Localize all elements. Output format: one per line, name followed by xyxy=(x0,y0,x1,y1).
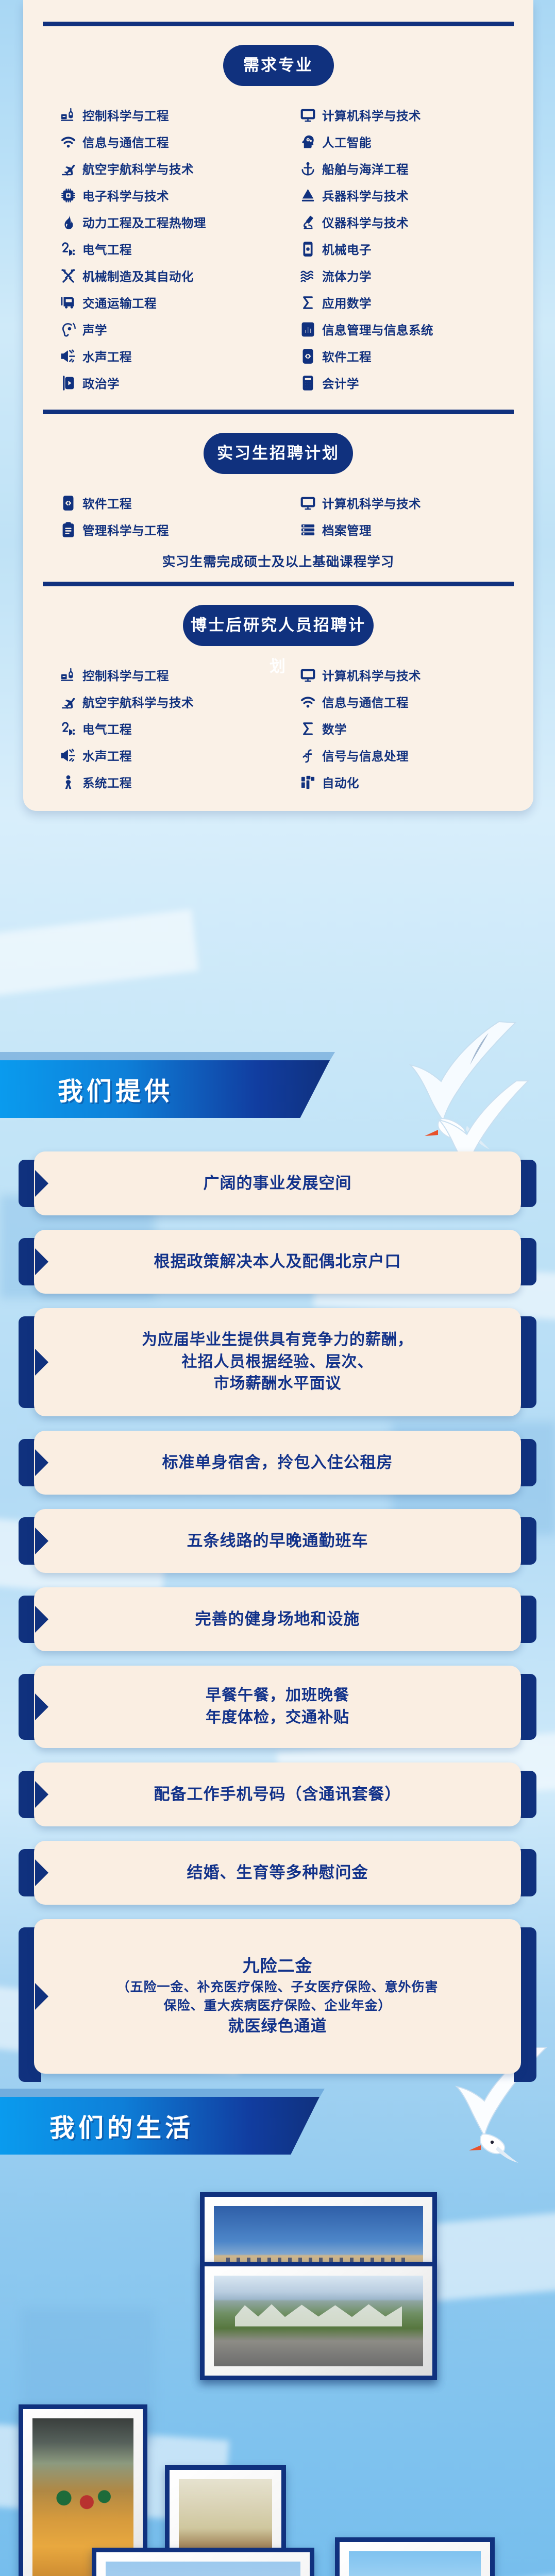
major-item: 自动化 xyxy=(278,769,533,795)
clipboard-icon xyxy=(59,521,77,538)
major-item: 航空宇航科学与技术 xyxy=(23,688,278,715)
microscope-icon xyxy=(299,213,316,231)
sonar-icon xyxy=(59,747,77,764)
majors-title: 需求专业 xyxy=(223,45,334,86)
chevron-right-icon xyxy=(35,1606,48,1633)
device-gear-icon xyxy=(299,240,316,258)
benefit-text: 广阔的事业发展空间 xyxy=(70,1172,485,1195)
insurance-footer: 就医绿色通道 xyxy=(116,2015,438,2038)
anchor-icon xyxy=(299,160,316,177)
majors-card: 需求专业 控制科学与工程计算机科学与技术信息与通信工程人工智能航空宇航科学与技术… xyxy=(23,0,533,811)
intern-grid: 软件工程计算机科学与技术管理科学与工程档案管理 xyxy=(23,487,533,543)
major-item-label: 管理科学与工程 xyxy=(82,521,169,538)
major-item-label: 数学 xyxy=(322,720,347,737)
benefit-text: 五条线路的早晚通勤班车 xyxy=(70,1530,485,1552)
major-item: 软件工程 xyxy=(278,343,533,369)
chip-icon xyxy=(59,187,77,204)
major-item-label: 电子科学与技术 xyxy=(82,187,169,204)
benefit-text: 早餐午餐，加班晚餐 年度体检，交通补贴 xyxy=(70,1685,485,1728)
major-item: 声学 xyxy=(23,316,278,343)
major-item: 人工智能 xyxy=(278,128,533,155)
major-item-label: 信息管理与信息系统 xyxy=(322,320,433,338)
life-banner: 我们的生活 xyxy=(0,2097,330,2158)
play-book-icon xyxy=(59,374,77,392)
bar-chart-icon xyxy=(299,320,316,338)
insurance-benefit-card: 九险二金 （五险一金、补充医疗保险、子女医疗保险、意外伤害 保险、重大疾病医疗保… xyxy=(19,1919,536,2074)
major-item: 系统工程 xyxy=(23,769,278,795)
major-item-label: 计算机科学与技术 xyxy=(322,106,421,124)
person-icon xyxy=(59,773,77,791)
major-item: 机械制造及其自动化 xyxy=(23,262,278,289)
major-item-label: 电气工程 xyxy=(82,240,132,258)
major-item: 机械电子 xyxy=(278,235,533,262)
major-item-label: 仪器科学与技术 xyxy=(322,213,409,231)
major-item: 船舶与海洋工程 xyxy=(278,155,533,182)
bus-icon xyxy=(59,294,77,311)
major-item: 应用数学 xyxy=(278,289,533,316)
intern-title: 实习生招聘计划 xyxy=(204,433,353,474)
major-item-label: 政治学 xyxy=(82,374,120,392)
major-item-label: 系统工程 xyxy=(82,773,132,791)
major-item-label: 机械电子 xyxy=(322,240,372,258)
major-item: 软件工程 xyxy=(23,489,278,516)
major-item-label: 控制科学与工程 xyxy=(82,106,169,124)
calculator-icon xyxy=(299,374,316,392)
automation-icon xyxy=(299,773,316,791)
majors-grid: 控制科学与工程计算机科学与技术信息与通信工程人工智能航空宇航科学与技术船舶与海洋… xyxy=(23,99,533,396)
benefit-text: 完善的健身场地和设施 xyxy=(70,1608,485,1631)
chevron-right-icon xyxy=(35,1248,48,1275)
major-item-label: 水声工程 xyxy=(82,347,132,365)
major-item: 计算机科学与技术 xyxy=(278,662,533,688)
major-item: 信号与信息处理 xyxy=(278,742,533,769)
major-item-label: 信息与通信工程 xyxy=(322,693,409,710)
seagull-illustration xyxy=(361,1018,531,1151)
ai-head-icon xyxy=(299,133,316,150)
ear-sound-icon xyxy=(59,320,77,338)
company-gate-sign-photo xyxy=(200,2262,437,2380)
offer-banner-text: 我们提供 xyxy=(58,1071,173,1108)
wifi-icon xyxy=(59,133,77,150)
chevron-right-icon xyxy=(35,1449,48,1476)
postdoc-grid: 控制科学与工程计算机科学与技术航空宇航科学与技术信息与通信工程电气工程数学水声工… xyxy=(23,659,533,795)
major-item-label: 软件工程 xyxy=(322,347,372,365)
major-item: 数学 xyxy=(278,715,533,742)
benefit-card: 根据政策解决本人及配偶北京户口 xyxy=(19,1230,536,1294)
major-item: 控制科学与工程 xyxy=(23,101,278,128)
major-item-label: 交通运输工程 xyxy=(82,294,157,311)
plug-icon xyxy=(59,240,77,258)
major-item: 信息管理与信息系统 xyxy=(278,316,533,343)
archive-list-icon xyxy=(299,521,316,538)
airplane-icon xyxy=(59,693,77,710)
major-item-label: 会计学 xyxy=(322,374,359,392)
tools-icon xyxy=(59,267,77,284)
benefit-text: 结婚、生育等多种慰问金 xyxy=(70,1861,485,1884)
chevron-right-icon xyxy=(35,1528,48,1554)
major-item-label: 电气工程 xyxy=(82,720,132,737)
insurance-detail: （五险一金、补充医疗保险、子女医疗保险、意外伤害 保险、重大疾病医疗保险、企业年… xyxy=(116,1978,438,2015)
office-tower-photo xyxy=(92,2548,314,2576)
benefit-text: 根据政策解决本人及配偶北京户口 xyxy=(70,1250,485,1273)
major-item: 水声工程 xyxy=(23,742,278,769)
major-item: 航空宇航科学与技术 xyxy=(23,155,278,182)
monitor-icon xyxy=(299,666,316,684)
major-item: 电气工程 xyxy=(23,715,278,742)
benefit-card: 广阔的事业发展空间 xyxy=(19,1151,536,1215)
major-item-label: 水声工程 xyxy=(82,747,132,764)
airplane-icon xyxy=(59,160,77,177)
major-item: 仪器科学与技术 xyxy=(278,209,533,235)
chevron-right-icon xyxy=(35,1983,48,2010)
major-item: 会计学 xyxy=(278,369,533,396)
benefits-list: 广阔的事业发展空间根据政策解决本人及配偶北京户口为应届毕业生提供具有竞争力的薪酬… xyxy=(0,1151,555,2088)
recruitment-poster: 需求专业 控制科学与工程计算机科学与技术信息与通信工程人工智能航空宇航科学与技术… xyxy=(0,0,555,2576)
major-item: 水声工程 xyxy=(23,343,278,369)
major-item-label: 船舶与海洋工程 xyxy=(322,160,409,177)
major-item: 动力工程及工程热物理 xyxy=(23,209,278,235)
major-item: 管理科学与工程 xyxy=(23,516,278,543)
chevron-right-icon xyxy=(35,1693,48,1720)
code-brackets-icon xyxy=(59,494,77,512)
benefit-text: 为应届毕业生提供具有竞争力的薪酬， 社招人员根据经验、层次、 市场薪酬水平面议 xyxy=(70,1329,485,1395)
monitor-icon xyxy=(299,106,316,124)
benefit-card: 标准单身宿舍，拎包入住公租房 xyxy=(19,1431,536,1495)
major-item: 电气工程 xyxy=(23,235,278,262)
life-banner-text: 我们的生活 xyxy=(49,2108,194,2144)
benefit-text: 配备工作手机号码（含通讯套餐） xyxy=(70,1783,485,1806)
major-item-label: 声学 xyxy=(82,320,107,338)
major-item: 计算机科学与技术 xyxy=(278,489,533,516)
missile-icon xyxy=(299,187,316,204)
flame-icon xyxy=(59,213,77,231)
intern-note: 实习生需完成硕士及以上基础课程学习 xyxy=(23,551,533,570)
benefit-card: 完善的健身场地和设施 xyxy=(19,1587,536,1651)
major-item-label: 航空宇航科学与技术 xyxy=(82,160,194,177)
major-item: 计算机科学与技术 xyxy=(278,101,533,128)
major-item-label: 人工智能 xyxy=(322,133,372,150)
sigma-icon xyxy=(299,294,316,311)
major-item: 兵器科学与技术 xyxy=(278,182,533,209)
major-item: 信息与通信工程 xyxy=(278,688,533,715)
benefit-card: 结婚、生育等多种慰问金 xyxy=(19,1841,536,1905)
major-item-label: 兵器科学与技术 xyxy=(322,187,409,204)
insurance-title: 九险二金 xyxy=(116,1955,438,1978)
sigma-icon xyxy=(299,720,316,737)
signal-f-icon xyxy=(299,747,316,764)
major-item-label: 动力工程及工程热物理 xyxy=(82,213,206,231)
divider-majors-bottom xyxy=(43,410,514,414)
major-item: 电子科学与技术 xyxy=(23,182,278,209)
major-item-label: 流体力学 xyxy=(322,267,372,284)
chevron-right-icon xyxy=(35,1781,48,1808)
major-item-label: 应用数学 xyxy=(322,294,372,311)
benefit-text: 标准单身宿舍，拎包入住公租房 xyxy=(70,1451,485,1474)
major-item-label: 信息与通信工程 xyxy=(82,133,169,150)
major-item: 交通运输工程 xyxy=(23,289,278,316)
major-item-label: 控制科学与工程 xyxy=(82,666,169,684)
waves-icon xyxy=(299,267,316,284)
benefit-card: 早餐午餐，加班晚餐 年度体检，交通补贴 xyxy=(19,1666,536,1748)
divider-intern-bottom xyxy=(43,582,514,586)
control-tower-icon xyxy=(59,106,77,124)
sonar-icon xyxy=(59,347,77,365)
major-item-label: 计算机科学与技术 xyxy=(322,666,421,684)
major-item-label: 档案管理 xyxy=(322,521,372,538)
major-item-label: 自动化 xyxy=(322,773,359,791)
dormitory-building-photo xyxy=(335,2537,495,2576)
offer-banner: 我们提供 xyxy=(0,1060,340,1121)
benefit-card: 为应届毕业生提供具有竞争力的薪酬， 社招人员根据经验、层次、 市场薪酬水平面议 xyxy=(19,1308,536,1416)
benefit-card: 配备工作手机号码（含通讯套餐） xyxy=(19,1762,536,1826)
postdoc-title: 博士后研究人员招聘计划 xyxy=(183,605,374,646)
major-item: 政治学 xyxy=(23,369,278,396)
benefit-card: 五条线路的早晚通勤班车 xyxy=(19,1509,536,1573)
plug-icon xyxy=(59,720,77,737)
major-item-label: 计算机科学与技术 xyxy=(322,494,421,512)
major-item: 控制科学与工程 xyxy=(23,662,278,688)
control-tower-icon xyxy=(59,666,77,684)
major-item: 档案管理 xyxy=(278,516,533,543)
paint-wash xyxy=(0,909,199,997)
divider-top xyxy=(43,22,514,26)
chevron-right-icon xyxy=(35,1859,48,1886)
major-item: 信息与通信工程 xyxy=(23,128,278,155)
monitor-icon xyxy=(299,494,316,512)
major-item-label: 航空宇航科学与技术 xyxy=(82,693,194,710)
major-item: 流体力学 xyxy=(278,262,533,289)
code-brackets-icon xyxy=(299,347,316,365)
major-item-label: 机械制造及其自动化 xyxy=(82,267,194,284)
chevron-right-icon xyxy=(35,1170,48,1197)
major-item-label: 软件工程 xyxy=(82,494,132,512)
major-item-label: 信号与信息处理 xyxy=(322,747,409,764)
chevron-right-icon xyxy=(35,1349,48,1376)
wifi-icon xyxy=(299,693,316,710)
